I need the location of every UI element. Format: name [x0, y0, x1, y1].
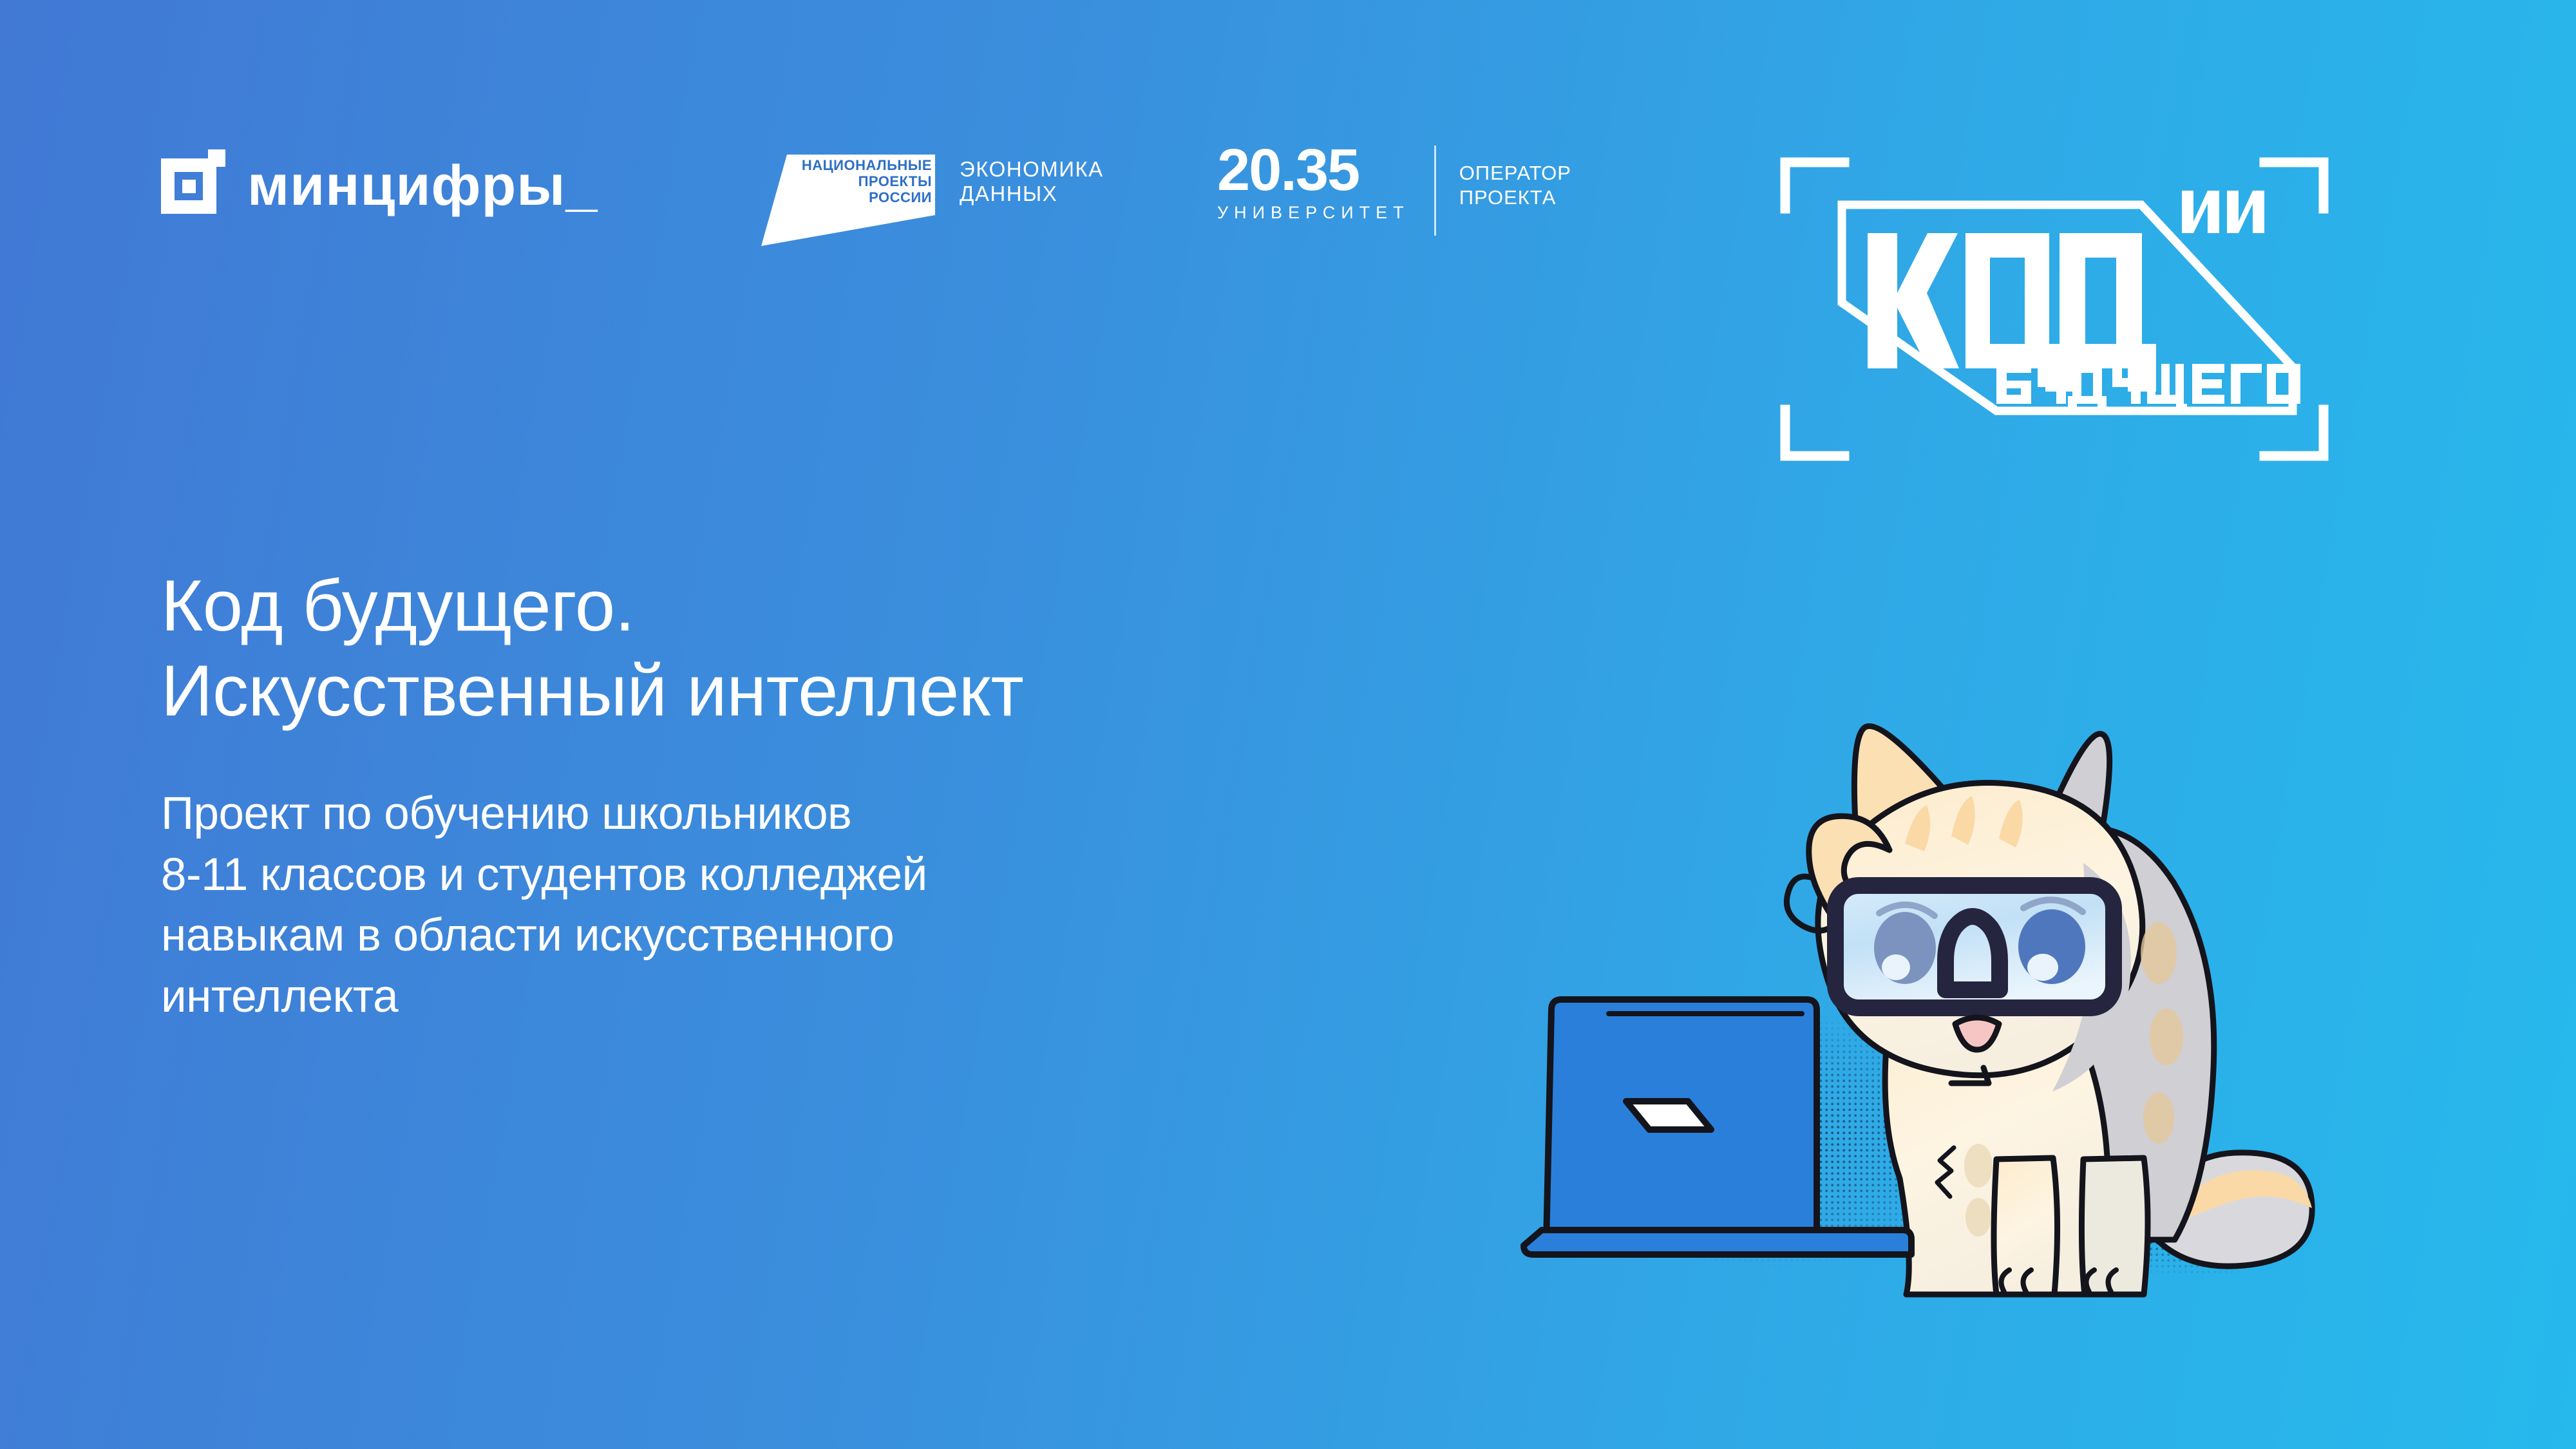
ekonomika-line-1: ЭКОНОМИКА [960, 157, 1104, 182]
subtitle-line-3: навыкам в области искусственного [161, 905, 1513, 966]
flag-line-3: РОССИИ [793, 189, 932, 205]
project-operator-label: ОПЕРАТОР ПРОЕКТА [1459, 161, 1571, 210]
mincifry-wordmark: минцифры_ [247, 157, 598, 214]
partner-logo-row: минцифры_ НАЦИОНАЛЬНЫЕ ПРОЕКТЫ РОССИИ ЭК… [0, 0, 2576, 270]
subtitle-line-2: 8-11 классов и студентов колледжей [161, 845, 1513, 905]
subtitle-line-4: интеллекта [161, 967, 1513, 1027]
title-line-2: Искусственный интеллект [161, 649, 1513, 734]
laptop-base [1524, 1230, 1911, 1255]
logo-ekonomika-dannyh[interactable]: НАЦИОНАЛЬНЫЕ ПРОЕКТЫ РОССИИ ЭКОНОМИКА ДА… [760, 139, 1095, 249]
university-subtitle: УНИВЕРСИТЕТ [1217, 203, 1410, 223]
logo-mincifry[interactable]: минцифры_ [161, 147, 598, 224]
flag-line-1: НАЦИОНАЛЬНЫЕ [793, 157, 932, 173]
slide-canvas: минцифры_ НАЦИОНАЛЬНЫЕ ПРОЕКТЫ РОССИИ ЭК… [0, 0, 2576, 1449]
national-projects-flag-text: НАЦИОНАЛЬНЫЕ ПРОЕКТЫ РОССИИ [793, 157, 932, 205]
center-dot-shape [182, 180, 196, 193]
logo-university-2035[interactable]: 20.35 УНИВЕРСИТЕТ ОПЕРАТОР ПРОЕКТА [1217, 143, 1571, 246]
ekonomika-dannyh-name: ЭКОНОМИКА ДАННЫХ [960, 157, 1104, 206]
university-lockup: 20.35 УНИВЕРСИТЕТ [1217, 143, 1410, 223]
operator-line-2: ПРОЕКТА [1459, 185, 1571, 210]
square-frame-icon [161, 149, 233, 222]
page-subtitle: Проект по обучению школьников 8-11 класс… [161, 784, 1513, 1027]
bracket-bottom-right [2264, 410, 2324, 456]
vertical-divider [1434, 146, 1436, 236]
page-title: Код будущего. Искусственный интеллект [161, 563, 1513, 734]
cat-mascot-illustration [1501, 650, 2338, 1333]
text-block: Код будущего. Искусственный интеллект Пр… [161, 515, 1513, 1073]
operator-line-1: ОПЕРАТОР [1459, 161, 1571, 185]
flag-line-2: ПРОЕКТЫ [793, 173, 932, 189]
bracket-top-left [1785, 162, 1844, 209]
logo-kod-budushchego[interactable] [1777, 155, 2331, 464]
subtitle-line-1: Проект по обучению школьников [161, 784, 1513, 844]
corner-square-shape [208, 149, 225, 167]
university-number: 20.35 [1217, 143, 1359, 198]
ekonomika-line-2: ДАННЫХ [960, 182, 1104, 206]
bracket-top-right [2264, 162, 2324, 209]
bracket-bottom-left [1785, 410, 1844, 456]
title-line-1: Код будущего. [161, 563, 1513, 649]
